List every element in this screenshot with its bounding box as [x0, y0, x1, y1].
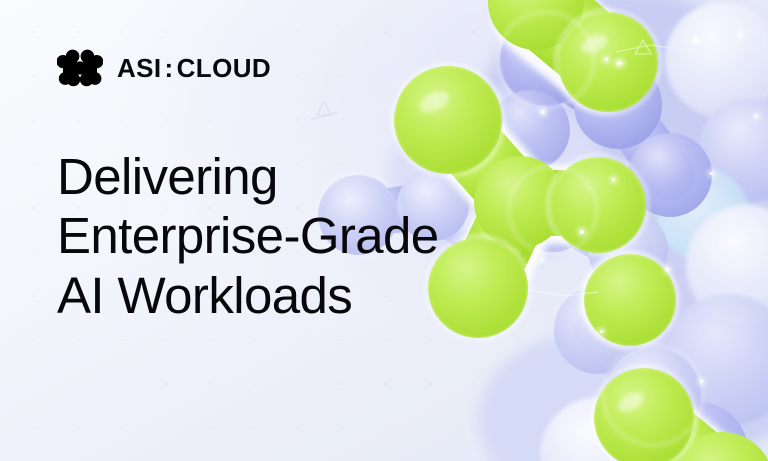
sparkle: [617, 62, 620, 65]
brand-name-secondary: CLOUD: [177, 53, 271, 83]
brand-name-separator: :: [162, 53, 177, 83]
brand-logo[interactable]: ASI:CLOUD: [57, 48, 271, 88]
hero-banner: ASI:CLOUD Delivering Enterprise-Grade AI…: [0, 0, 768, 461]
headline-line-3: AI Workloads: [57, 266, 617, 325]
sparkle: [600, 330, 603, 333]
sparkle: [739, 33, 742, 36]
sparkle: [755, 115, 758, 118]
sparkle: [694, 38, 698, 42]
sparkle: [710, 172, 713, 175]
sparkle: [666, 268, 669, 271]
page-title: Delivering Enterprise-Grade AI Workloads: [57, 147, 617, 325]
sparkle: [541, 110, 545, 114]
brand-name-primary: ASI: [117, 53, 162, 83]
sparkle: [620, 62, 622, 64]
headline-line-2: Enterprise-Grade: [57, 206, 617, 265]
sparkle: [700, 380, 703, 383]
brand-logo-text: ASI:CLOUD: [117, 55, 271, 81]
headline-line-1: Delivering: [57, 147, 617, 206]
asi-molecule-logo-mark-icon: [57, 48, 103, 88]
sparkle: [605, 58, 608, 61]
